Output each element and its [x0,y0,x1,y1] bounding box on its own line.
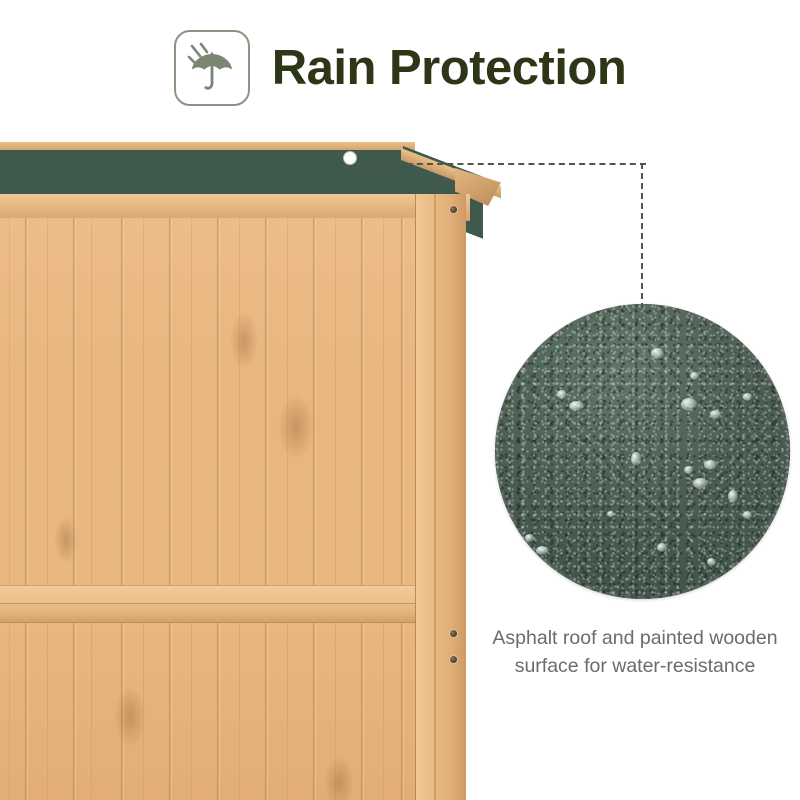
shed-corner-post [415,194,466,800]
caption-line-1: Asphalt roof and painted wooden [470,624,800,652]
caption-text: Asphalt roof and painted wooden surface … [470,624,800,680]
marketing-image: Rain Protection [0,0,800,800]
page-title: Rain Protection [272,44,627,93]
asphalt-texture-zoom-circle [495,304,790,599]
water-droplet [728,490,738,503]
caption-line-2: surface for water-resistance [470,652,800,680]
screw-icon [450,656,457,663]
header-banner: Rain Protection [0,18,800,118]
shed-top-trim [0,194,470,221]
screw-icon [450,206,457,213]
wooden-shed-photo [0,138,505,800]
shed-door-panel [0,218,450,800]
shed-cross-rail [0,585,445,623]
water-droplet [743,393,752,401]
granule-texture-overlay [495,304,790,599]
screw-icon [450,630,457,637]
water-droplet [631,452,641,466]
callout-line-horizontal [356,163,646,165]
water-droplet [525,534,534,542]
roof-surface-marker [344,152,356,164]
callout-line-vertical [641,163,643,309]
water-droplet [690,372,699,380]
umbrella-rain-icon [174,30,250,106]
water-droplet [693,478,708,489]
water-droplet [743,511,752,519]
water-droplet [557,390,567,399]
water-droplet [607,511,614,517]
plank-seams [0,218,450,800]
